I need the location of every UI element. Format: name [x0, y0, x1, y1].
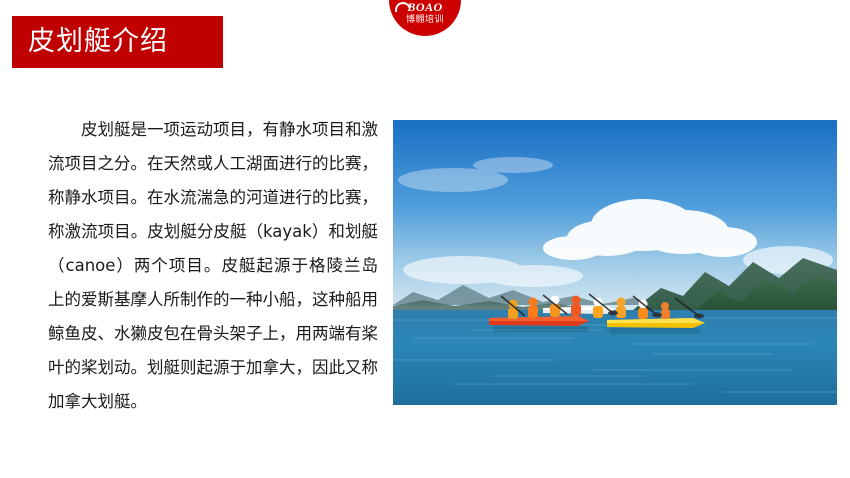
page-title: 皮划艇介绍: [12, 27, 168, 57]
kayak-photo-illustration: [393, 120, 837, 405]
logo-mark-text: BOAO: [389, 1, 461, 14]
slide: BOAO 博翱培训 皮划艇介绍 皮划艇是一项运动项目，有静水项目和激流项目之分。…: [0, 0, 850, 478]
logo-sub-text: 博翱培训: [389, 15, 461, 26]
title-banner: 皮划艇介绍: [12, 16, 223, 68]
kayak-photo: [393, 120, 837, 405]
body-paragraph: 皮划艇是一项运动项目，有静水项目和激流项目之分。在天然或人工湖面进行的比赛，称静…: [48, 113, 378, 419]
brand-logo: BOAO 博翱培训: [389, 0, 461, 36]
